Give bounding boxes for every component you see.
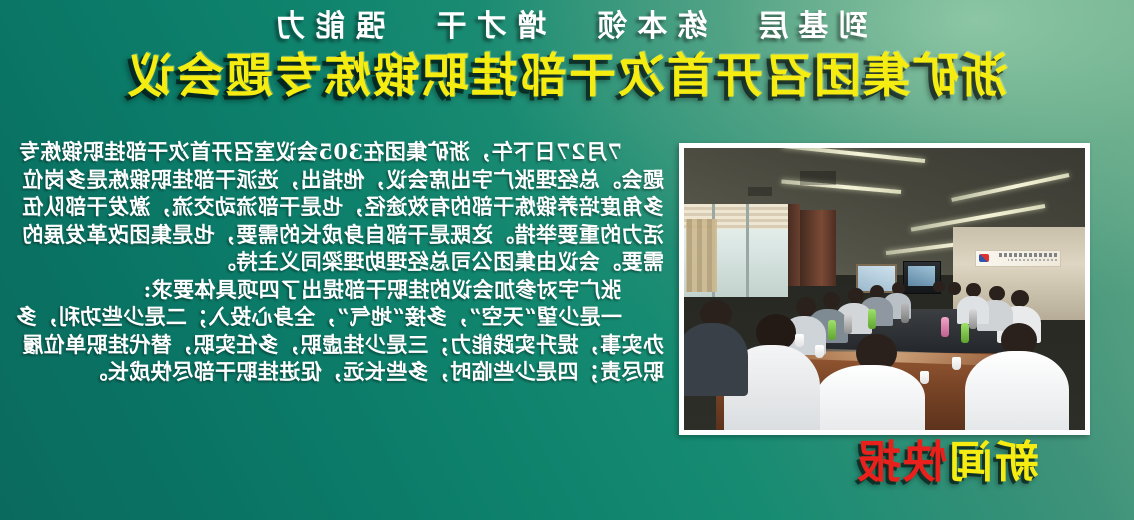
article-paragraph-2: 张广宇对参加会议的挂职干部提出了四项具体要求: [14, 276, 664, 304]
company-logo-icon [979, 254, 989, 262]
article-body: 7月27日下午，浙矿集团在305会议室召开首次干部挂职锻炼专题会。总经理张广宇出… [14, 138, 664, 386]
poster-headline: 浙矿集团召开首次干部挂职锻炼专题会议 [0, 49, 1134, 105]
masthead: 新闻快报 [855, 437, 1039, 489]
meeting-photo-frame [679, 143, 1090, 435]
curtain [686, 219, 717, 292]
wood-pillar [800, 210, 836, 286]
news-poster: 到基层 练本领 增才干 强能力 浙矿集团召开首次干部挂职锻炼专题会议 [0, 0, 1134, 520]
masthead-part-1: 新闻 [947, 437, 1039, 488]
article-paragraph-3: 一是少望“天空”，多接“地气”，全身心投入；二是少些功利，多办实事，提升实践能力… [14, 303, 664, 386]
meeting-photo [684, 148, 1085, 430]
poster-subtitle: 到基层 练本领 增才干 强能力 [0, 8, 1134, 46]
window [684, 204, 788, 297]
wall-company-sign [975, 250, 1061, 268]
header-block: 到基层 练本领 增才干 强能力 浙矿集团召开首次干部挂职锻炼专题会议 [0, 8, 1134, 105]
masthead-part-2: 快报 [855, 437, 947, 488]
article-paragraph-1: 7月27日下午，浙矿集团在305会议室召开首次干部挂职锻炼专题会。总经理张广宇出… [14, 138, 664, 276]
